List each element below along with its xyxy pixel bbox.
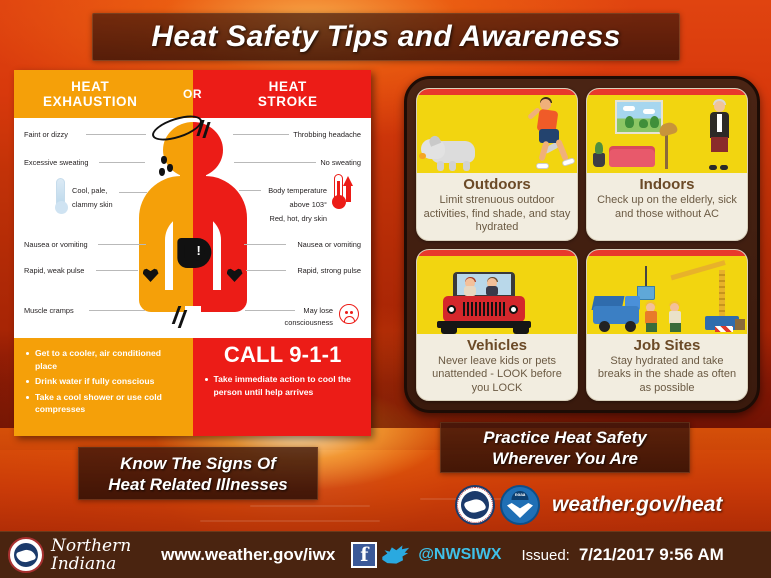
heat-exhaustion-line1: HEAT — [71, 79, 109, 94]
heat-safety-tips-panel: Outdoors Limit strenuous outdoor activit… — [404, 76, 760, 413]
symptom-right-nausea: Nausea or vomiting — [297, 240, 361, 249]
indoors-illustration — [587, 95, 747, 173]
child-icon — [464, 286, 476, 296]
water-streak — [200, 520, 380, 522]
worker-icon — [670, 323, 681, 332]
tip-card-vehicles[interactable]: Vehicles Never leave kids or pets unatte… — [416, 249, 578, 402]
social-icons: f — [351, 542, 410, 568]
tip-desc-outdoors: Limit strenuous outdoor activities, find… — [423, 194, 571, 235]
adult-icon — [486, 286, 498, 296]
symptom-left-clammy-skin: clammy skin — [72, 200, 113, 209]
office-website-url[interactable]: www.weather.gov/iwx — [161, 545, 335, 565]
action-item: Get to a cooler, air conditioned place — [26, 347, 183, 372]
office-name-line1: Northern — [51, 537, 131, 555]
heat-exhaustion-header: HEAT EXHAUSTION — [14, 70, 193, 118]
noaa-logo-icon: noaa — [500, 485, 540, 525]
heat-stroke-header: HEAT STROKE — [193, 70, 372, 118]
heat-exhaustion-actions: Get to a cooler, air conditioned place D… — [14, 338, 193, 436]
leader-line — [233, 134, 289, 135]
leader-line — [234, 162, 316, 163]
leader-line — [89, 310, 145, 311]
vehicles-text: Vehicles Never leave kids or pets unatte… — [417, 334, 577, 401]
heat-stroke-actions: CALL 9-1-1 Take immediate action to cool… — [193, 338, 372, 436]
symptom-left-muscle-cramps: Muscle cramps — [24, 306, 74, 315]
symptom-right-consciousness: consciousness — [285, 318, 333, 327]
elderly-person-icon — [709, 165, 717, 170]
elderly-person-icon — [711, 137, 728, 152]
heat-stroke-line1: HEAT — [269, 79, 307, 94]
call-911-text: CALL 9-1-1 — [205, 342, 362, 368]
jeep-icon — [509, 305, 518, 314]
heat-exhaustion-label: HEAT EXHAUSTION — [43, 79, 164, 109]
window-icon — [615, 100, 663, 134]
stomach-icon — [177, 238, 211, 268]
sweat-drop-icon — [167, 164, 173, 172]
barrier-icon — [715, 326, 733, 332]
crate-icon — [735, 319, 745, 330]
heat-exhaustion-line2: EXHAUSTION — [43, 94, 138, 109]
heat-stroke-line2: STROKE — [258, 94, 318, 109]
tip-title-outdoors: Outdoors — [423, 176, 571, 194]
issued-timestamp: 7/21/2017 9:56 AM — [579, 545, 724, 565]
crane-icon — [670, 260, 725, 280]
symptom-right-body-temperature: Body temperature — [268, 186, 327, 195]
dog-icon — [437, 161, 444, 171]
dog-icon — [463, 161, 470, 171]
cold-thermometer-icon — [56, 178, 65, 210]
know-banner-line2: Heat Related Illnesses — [108, 474, 288, 495]
leader-line — [245, 310, 295, 311]
tip-title-vehicles: Vehicles — [423, 337, 571, 355]
nws-footer-logo-icon — [8, 537, 44, 573]
tip-card-outdoors[interactable]: Outdoors Limit strenuous outdoor activit… — [416, 88, 578, 241]
tip-desc-vehicles: Never leave kids or pets unattended - LO… — [423, 355, 571, 396]
plant-icon — [595, 142, 603, 154]
twitter-handle[interactable]: @NWSIWX — [418, 546, 501, 564]
heat-exhaustion-action-list: Get to a cooler, air conditioned place D… — [26, 347, 183, 416]
unconscious-face-icon — [339, 304, 359, 324]
temperature-rising-arrow-icon — [343, 176, 353, 186]
job-sites-text: Job Sites Stay hydrated and take breaks … — [587, 334, 747, 401]
practice-heat-safety-banner: Practice Heat Safety Wherever You Are — [440, 422, 690, 473]
tip-desc-job-sites: Stay hydrated and take breaks in the sha… — [593, 355, 741, 396]
twitter-icon[interactable] — [382, 543, 410, 567]
dump-truck-icon — [625, 321, 636, 332]
symptom-left-sweating: Excessive sweating — [24, 158, 89, 167]
sweat-drop-icon — [159, 168, 165, 176]
crane-icon — [645, 266, 647, 288]
weather-gov-row: noaa weather.gov/heat — [455, 484, 755, 526]
leader-line — [119, 192, 147, 193]
practice-banner-line2: Wherever You Are — [492, 448, 638, 469]
tip-desc-indoors: Check up on the elderly, sick and those … — [593, 194, 741, 221]
leader-line — [246, 270, 286, 271]
outdoors-text: Outdoors Limit strenuous outdoor activit… — [417, 173, 577, 240]
symptom-left-weak-pulse: Rapid, weak pulse — [24, 266, 84, 275]
leader-line — [86, 134, 146, 135]
runner-icon — [536, 163, 549, 169]
jeep-icon — [513, 324, 529, 334]
leader-line — [96, 270, 138, 271]
symptom-right-strong-pulse: Rapid, strong pulse — [297, 266, 361, 275]
know-the-signs-banner: Know The Signs Of Heat Related Illnesses — [78, 447, 318, 500]
footer-bar: Northern Indiana www.weather.gov/iwx f @… — [0, 531, 771, 578]
water-streak — [250, 505, 370, 507]
action-item: Take a cool shower or use cold compresse… — [26, 391, 183, 416]
symptom-right-above-103: above 103° — [290, 200, 327, 209]
nws-logo-icon — [455, 485, 495, 525]
lamp-icon — [665, 133, 668, 169]
symptom-left-cool-pale: Cool, pale, — [72, 186, 107, 195]
vehicles-illustration — [417, 256, 577, 334]
issued-label: Issued: — [521, 547, 569, 564]
worker-icon — [646, 323, 657, 332]
symptom-left-faint: Faint or dizzy — [24, 130, 68, 139]
facebook-icon[interactable]: f — [351, 542, 377, 568]
symptom-right-dry-skin: Red, hot, dry skin — [269, 214, 327, 223]
know-banner-line1: Know The Signs Of — [120, 453, 276, 474]
heat-stroke-action-list: Take immediate action to cool the person… — [205, 373, 362, 398]
jeep-icon — [463, 302, 505, 316]
practice-banner-line1: Practice Heat Safety — [483, 427, 646, 448]
heat-stroke-label: HEAT STROKE — [246, 79, 318, 109]
symptom-right-headache: Throbbing headache — [293, 130, 361, 139]
jeep-icon — [441, 324, 457, 334]
tip-title-job-sites: Job Sites — [593, 337, 741, 355]
job-sites-illustration — [587, 256, 747, 334]
hot-thermometer-icon — [334, 174, 343, 204]
tip-card-job-sites[interactable]: Job Sites Stay hydrated and take breaks … — [586, 249, 748, 402]
plant-icon — [593, 153, 605, 167]
outdoors-illustration — [417, 95, 577, 173]
symptom-diagram: Faint or dizzy Excessive sweating Cool, … — [14, 118, 371, 338]
page-title: Heat Safety Tips and Awareness — [151, 20, 620, 54]
sweat-drop-icon — [161, 156, 167, 164]
dog-icon — [419, 153, 426, 159]
action-item: Take immediate action to cool the person… — [205, 373, 362, 398]
heat-illness-infographic: HEAT EXHAUSTION HEAT STROKE OR — [14, 70, 371, 436]
page-title-banner: Heat Safety Tips and Awareness — [92, 13, 680, 61]
jeep-icon — [447, 305, 456, 314]
tip-card-indoors[interactable]: Indoors Check up on the elderly, sick an… — [586, 88, 748, 241]
indoors-text: Indoors Check up on the elderly, sick an… — [587, 173, 747, 240]
tip-title-indoors: Indoors — [593, 176, 741, 194]
dump-truck-icon — [599, 321, 610, 332]
elderly-person-icon — [717, 114, 722, 132]
dog-icon — [449, 161, 456, 171]
leader-line — [239, 190, 261, 191]
weather-gov-heat-url[interactable]: weather.gov/heat — [552, 493, 722, 517]
symptom-right-no-sweating: No sweating — [320, 158, 361, 167]
infographic-actions: Get to a cooler, air conditioned place D… — [14, 338, 371, 436]
elderly-person-icon — [720, 165, 728, 170]
elderly-person-icon — [714, 101, 725, 112]
symptom-left-nausea: Nausea or vomiting — [24, 240, 88, 249]
office-name-line2: Indiana — [51, 555, 131, 573]
leader-line — [99, 162, 145, 163]
human-figure-illustration — [133, 120, 253, 336]
symptom-right-may-lose: May lose — [303, 306, 333, 315]
office-name: Northern Indiana — [51, 537, 131, 573]
leader-line — [244, 244, 286, 245]
sofa-icon — [609, 149, 655, 167]
leader-line — [98, 244, 146, 245]
infographic-header: HEAT EXHAUSTION HEAT STROKE OR — [14, 70, 371, 118]
runner-icon — [555, 139, 569, 162]
action-item: Drink water if fully conscious — [26, 375, 183, 388]
or-divider-label: OR — [183, 87, 202, 101]
